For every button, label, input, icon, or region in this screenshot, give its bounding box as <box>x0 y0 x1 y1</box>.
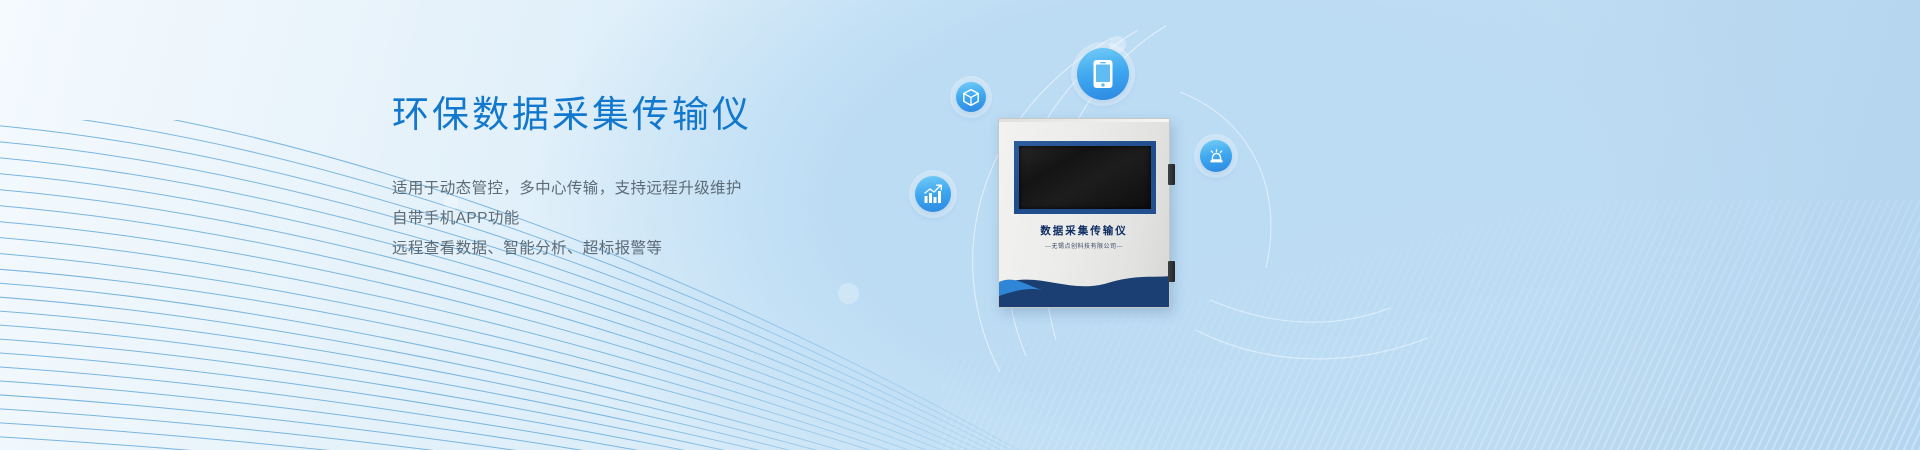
smartphone-icon[interactable] <box>1077 48 1129 100</box>
bar-chart-icon[interactable] <box>915 176 951 212</box>
subtitle-list: 适用于动态管控，多中心传输，支持远程升级维护 自带手机APP功能 远程查看数据、… <box>392 174 952 264</box>
bokeh-dot <box>838 283 859 304</box>
cabinet-wave-graphic <box>999 265 1169 307</box>
device-hinge-top <box>1168 164 1175 185</box>
orbit-arcs <box>880 0 1640 450</box>
subtitle-line-2: 自带手机APP功能 <box>392 204 952 234</box>
device-screen-frame <box>1014 141 1156 214</box>
device-hinge-bottom <box>1168 261 1175 282</box>
product-banner: 环保数据采集传输仪 适用于动态管控，多中心传输，支持远程升级维护 自带手机APP… <box>0 0 1920 450</box>
subtitle-line-3: 远程查看数据、智能分析、超标报警等 <box>392 234 952 264</box>
device-company: —无锡点创科技有限公司— <box>999 241 1169 250</box>
alarm-light-icon[interactable] <box>1200 140 1232 172</box>
device-screen <box>1019 146 1151 209</box>
cabinet-top-edge <box>999 119 1169 122</box>
subtitle-line-1: 适用于动态管控，多中心传输，支持远程升级维护 <box>392 174 952 204</box>
product-visual: 数据采集传输仪 —无锡点创科技有限公司— <box>880 0 1640 450</box>
data-acquisition-device: 数据采集传输仪 —无锡点创科技有限公司— <box>998 118 1170 308</box>
banner-copy: 环保数据采集传输仪 适用于动态管控，多中心传输，支持远程升级维护 自带手机APP… <box>392 92 952 264</box>
page-title: 环保数据采集传输仪 <box>392 92 952 138</box>
cube-icon[interactable] <box>956 82 986 112</box>
device-label: 数据采集传输仪 <box>999 223 1169 238</box>
